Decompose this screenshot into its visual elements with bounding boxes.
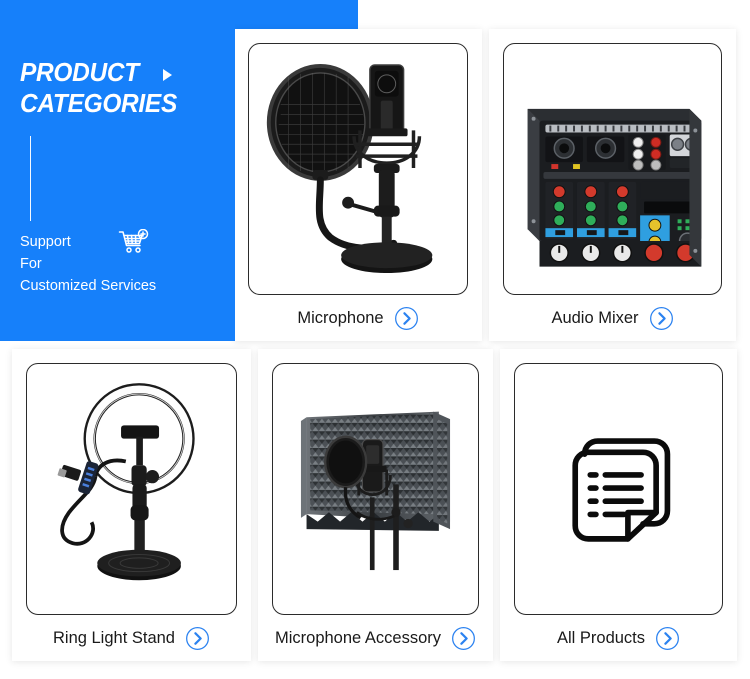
promo-panel: PRODUCT CATEGORIES Support For Customize…: [0, 0, 235, 341]
chevron-right-circle-icon[interactable]: [649, 306, 674, 331]
category-label: Microphone: [297, 310, 383, 327]
category-card-microphone[interactable]: Microphone: [234, 29, 482, 341]
condenser-microphone-with-pop-filter-photo: [249, 44, 467, 294]
category-card-all-products[interactable]: All Products: [500, 349, 737, 661]
chevron-right-circle-icon[interactable]: [185, 626, 210, 651]
card-image-frame: [272, 363, 479, 615]
card-image-frame: [26, 363, 237, 615]
card-label-row: All Products: [500, 621, 737, 655]
triangle-right-icon: [163, 69, 172, 81]
card-label-row: Microphone Accessory: [258, 621, 493, 655]
chevron-right-circle-icon[interactable]: [451, 626, 476, 651]
ring-light-with-desktop-stand-photo: [27, 364, 236, 614]
category-label: All Products: [557, 630, 645, 647]
4-channel-audio-mixer-photo: [504, 44, 721, 294]
category-card-microphone-accessory[interactable]: Microphone Accessory: [258, 349, 493, 661]
chevron-right-circle-icon[interactable]: [394, 306, 419, 331]
page-title: PRODUCT CATEGORIES: [20, 57, 208, 119]
category-card-ring-light-stand[interactable]: Ring Light Stand: [12, 349, 251, 661]
shopping-cart-search-icon: [118, 229, 150, 255]
category-label: Audio Mixer: [551, 310, 638, 327]
stacked-documents-outline-icon: [515, 364, 722, 614]
card-label-row: Ring Light Stand: [12, 621, 251, 655]
card-label-row: Audio Mixer: [489, 301, 736, 335]
microphone-isolation-shield-photo: [273, 364, 478, 614]
card-image-frame: [514, 363, 723, 615]
chevron-right-circle-icon[interactable]: [655, 626, 680, 651]
card-label-row: Microphone: [234, 301, 482, 335]
category-label: Microphone Accessory: [275, 630, 441, 647]
card-image-frame: [248, 43, 468, 295]
vertical-rule: [30, 136, 31, 221]
product-categories-banner: Microphone: [0, 0, 750, 679]
category-card-audio-mixer[interactable]: Audio Mixer: [489, 29, 736, 341]
category-label: Ring Light Stand: [53, 630, 175, 647]
card-image-frame: [503, 43, 722, 295]
